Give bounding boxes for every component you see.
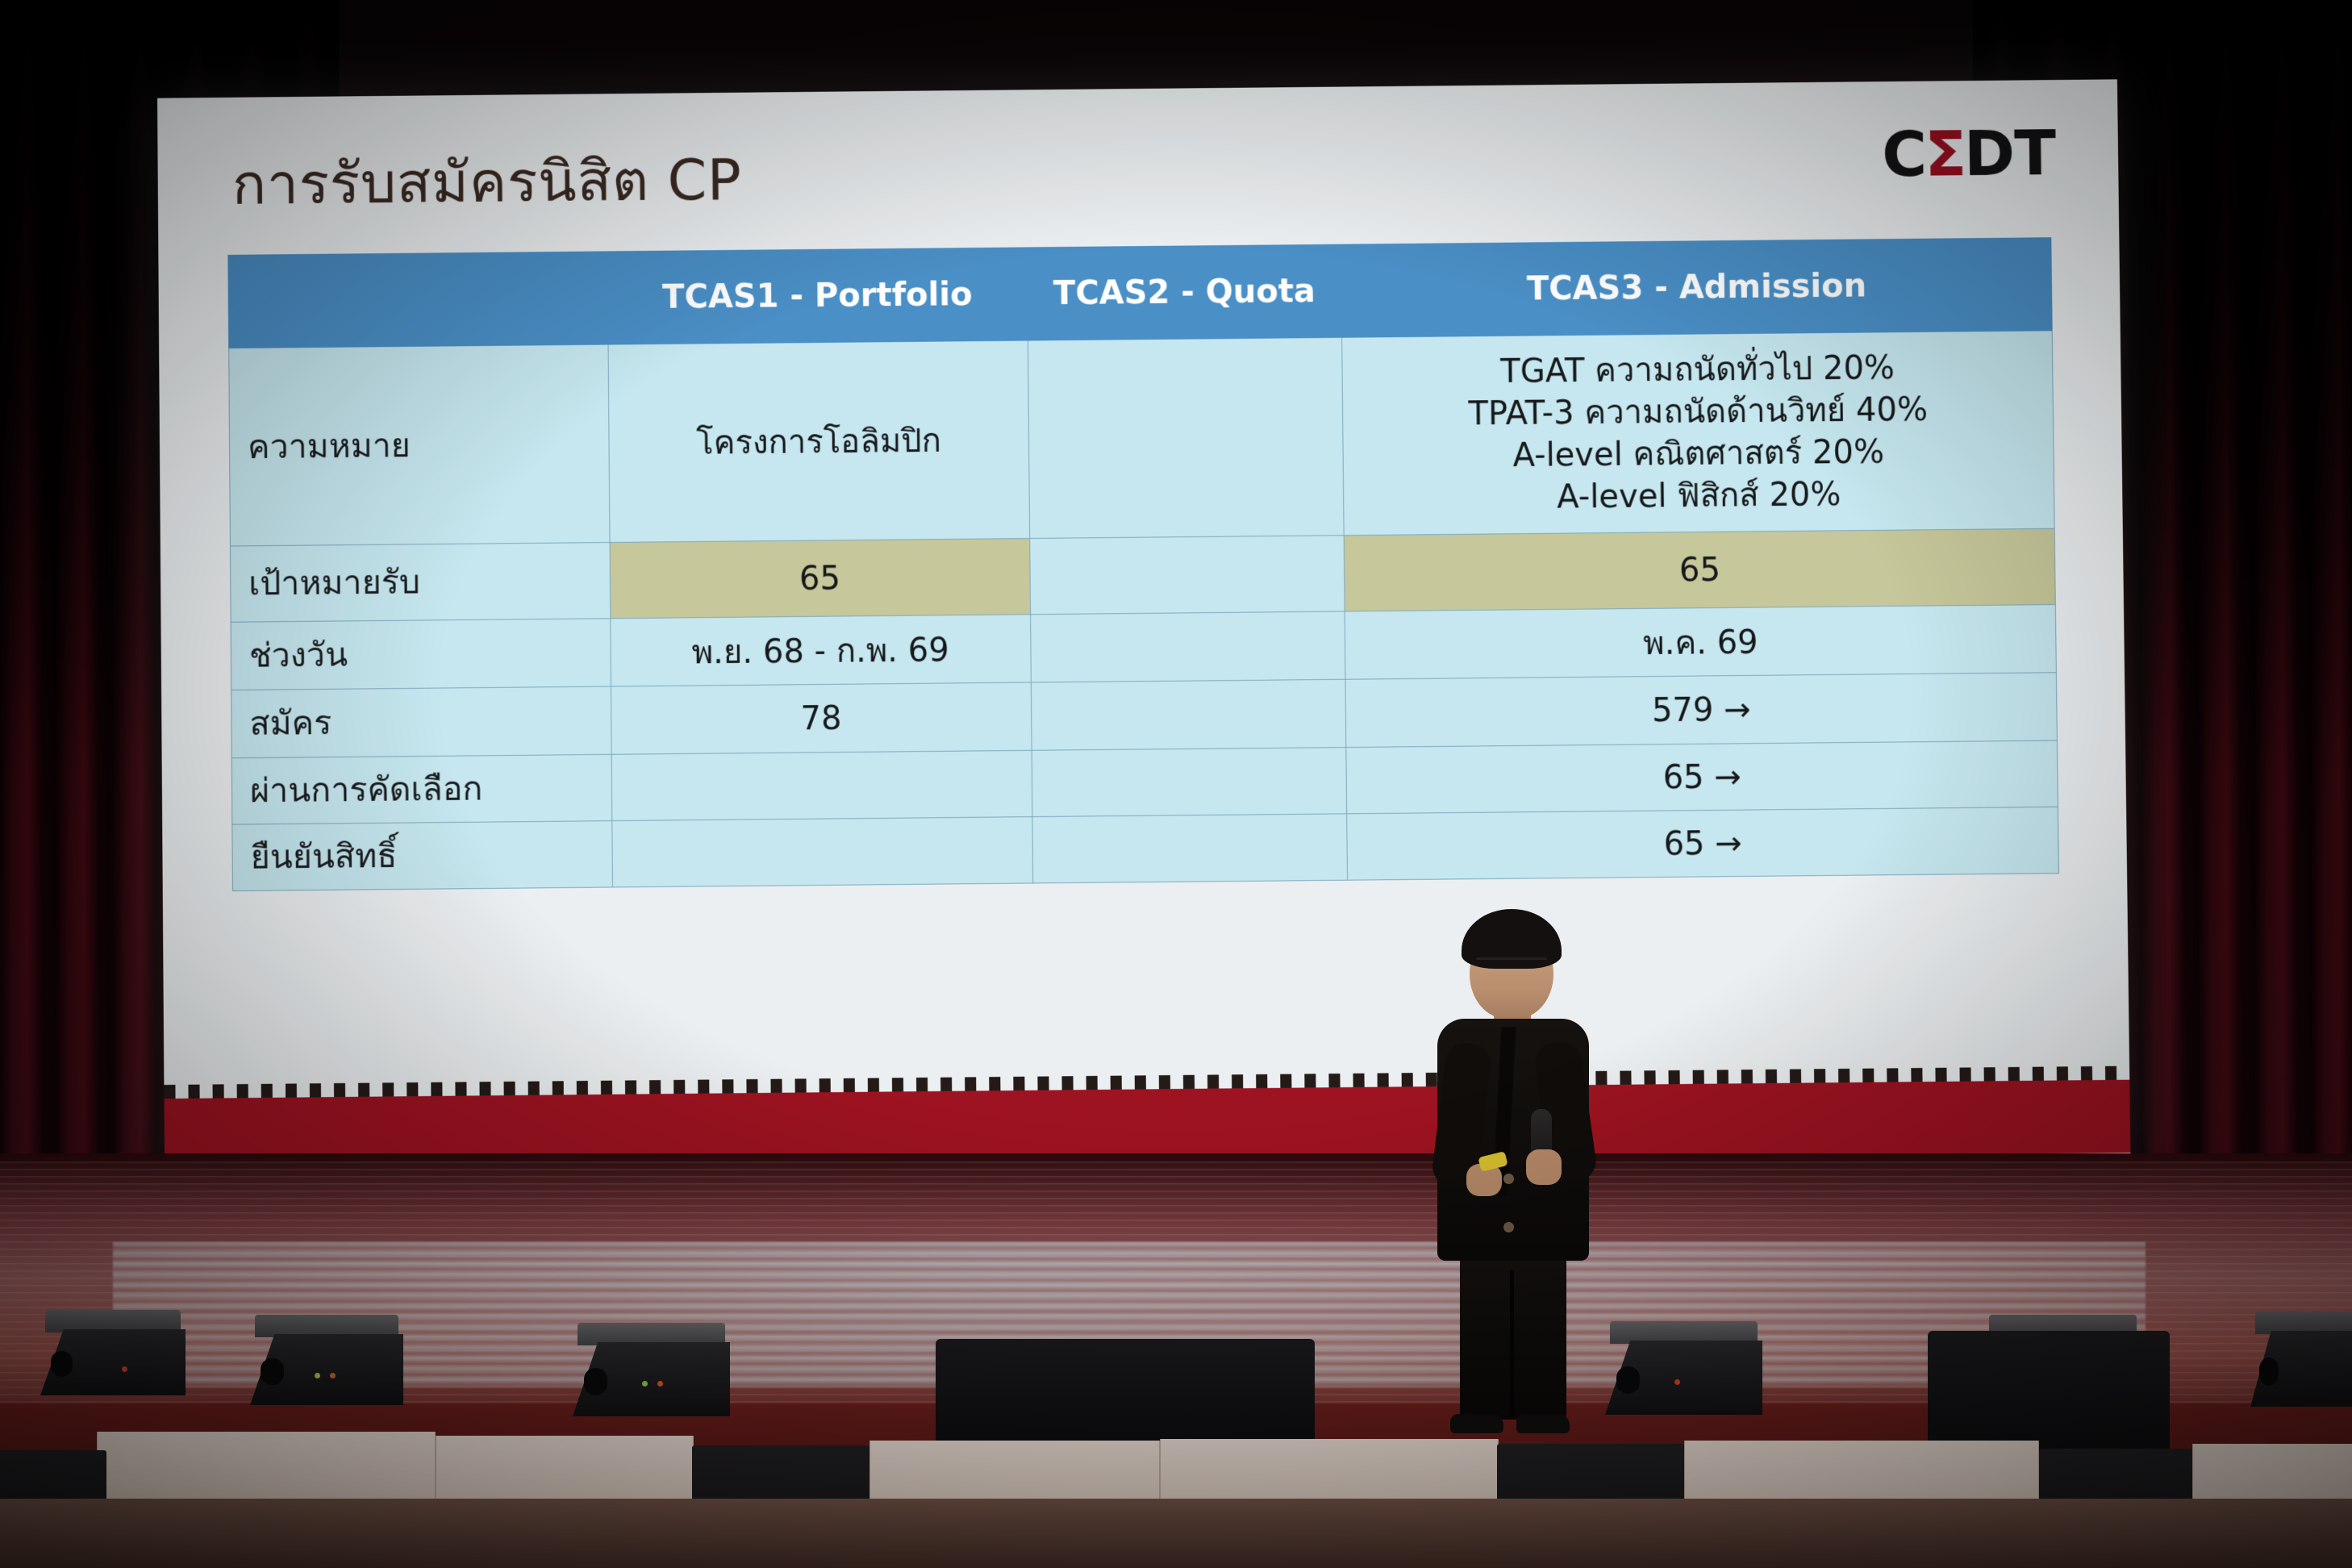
presenter-glasses-icon <box>1476 957 1547 971</box>
cell-apply-tcas1: 78 <box>611 682 1031 754</box>
cell-confirm-tcas2 <box>1032 814 1347 883</box>
row-label-apply: สมัคร <box>231 686 611 758</box>
cell-target-tcas2 <box>1029 536 1345 615</box>
logo-sigma-icon: Σ <box>1925 118 1966 190</box>
logo-letters-dt: DT <box>1964 117 2056 190</box>
console-desk-base <box>0 1499 2352 1568</box>
cedt-logo: CΣDT <box>1882 117 2056 190</box>
monitor-led-icon <box>1674 1379 1680 1385</box>
monitor-led-icon <box>122 1366 127 1372</box>
row-label-passed: ผ่านการคัดเลือก <box>231 754 611 824</box>
presenter-shoe-right <box>1516 1414 1570 1433</box>
presenter-hand-right <box>1526 1149 1562 1185</box>
cell-period-tcas2 <box>1030 611 1345 682</box>
cell-passed-tcas1 <box>611 750 1032 820</box>
stage-monitor <box>1605 1321 1762 1415</box>
cell-target-tcas1: 65 <box>610 538 1030 618</box>
monitor-top-plate <box>255 1315 398 1337</box>
cell-target-tcas3: 65 <box>1345 528 2056 611</box>
table-header-tcas2: TCAS2 - Quota <box>1027 244 1342 340</box>
table-header-tcas1: TCAS1 - Portfolio <box>607 248 1028 344</box>
slide-canvas: การรับสมัครนิสิต CP CΣDT TCAS1 - Portfol… <box>157 79 2131 1186</box>
monitor-port-icon <box>2259 1357 2279 1386</box>
monitor-top-plate <box>1610 1321 1758 1344</box>
stage-monitor <box>2250 1312 2352 1407</box>
logo-letter-c: C <box>1882 119 1927 191</box>
monitor-led-icon <box>315 1373 320 1378</box>
row-label-confirm: ยืนยันสิทธิ์ <box>232 821 612 891</box>
monitor-top-plate <box>2255 1312 2352 1334</box>
auditorium-scene: การรับสมัครนิสิต CP CΣDT TCAS1 - Portfol… <box>0 0 2352 1568</box>
projection-screen: การรับสมัครนิสิต CP CΣDT TCAS1 - Portfol… <box>157 79 2131 1186</box>
stage-monitor <box>573 1323 730 1416</box>
monitor-port-icon <box>51 1351 73 1377</box>
row-label-target: เป้าหมายรับ <box>230 542 610 622</box>
monitor-led-icon <box>330 1373 336 1378</box>
table-header-tcas3: TCAS3 - Admission <box>1341 238 2052 338</box>
monitor-top-plate <box>578 1323 725 1345</box>
presenter-button-lower <box>1503 1222 1514 1232</box>
page-title: การรับสมัครนิสิต CP <box>231 135 741 229</box>
monitor-port-icon <box>1616 1366 1640 1395</box>
cell-apply-tcas3: 579 → <box>1345 673 2057 748</box>
stage-monitor <box>250 1315 403 1405</box>
table-header-row: TCAS1 - Portfolio TCAS2 - Quota TCAS3 - … <box>228 238 2052 348</box>
monitor-port-icon <box>584 1368 607 1396</box>
table-row: ความหมาย โครงการโอลิมปิก TGAT ความถนัดทั… <box>229 331 2054 546</box>
cell-passed-tcas2 <box>1032 748 1347 817</box>
monitor-led-icon <box>642 1381 648 1387</box>
cell-confirm-tcas1 <box>612 817 1033 887</box>
stage-monitor <box>40 1310 186 1395</box>
table-header-blank <box>228 252 608 348</box>
presenter-person <box>1420 907 1605 1440</box>
monitor-top-plate <box>45 1310 181 1332</box>
cell-meaning-tcas3: TGAT ความถนัดทั่วไป 20%TPAT-3 ความถนัดด้… <box>1342 331 2054 536</box>
admissions-table: TCAS1 - Portfolio TCAS2 - Quota TCAS3 - … <box>227 237 2059 891</box>
cell-period-tcas3: พ.ค. 69 <box>1345 605 2057 680</box>
presenter-shoe-left <box>1450 1414 1503 1433</box>
presenter-button-upper <box>1503 1174 1514 1184</box>
cell-apply-tcas2 <box>1031 679 1346 750</box>
cell-passed-tcas3: 65 → <box>1346 740 2058 814</box>
cell-meaning-tcas1: โครงการโอลิมปิก <box>608 340 1029 542</box>
cell-meaning-tcas2 <box>1028 337 1345 538</box>
cell-period-tcas1: พ.ย. 68 - ก.พ. 69 <box>611 615 1031 686</box>
row-label-period: ช่วงวัน <box>231 619 611 690</box>
presenter-leg-split <box>1510 1270 1514 1416</box>
row-label-meaning: ความหมาย <box>229 344 610 546</box>
monitor-port-icon <box>261 1358 284 1386</box>
cell-confirm-tcas3: 65 → <box>1347 807 2058 880</box>
